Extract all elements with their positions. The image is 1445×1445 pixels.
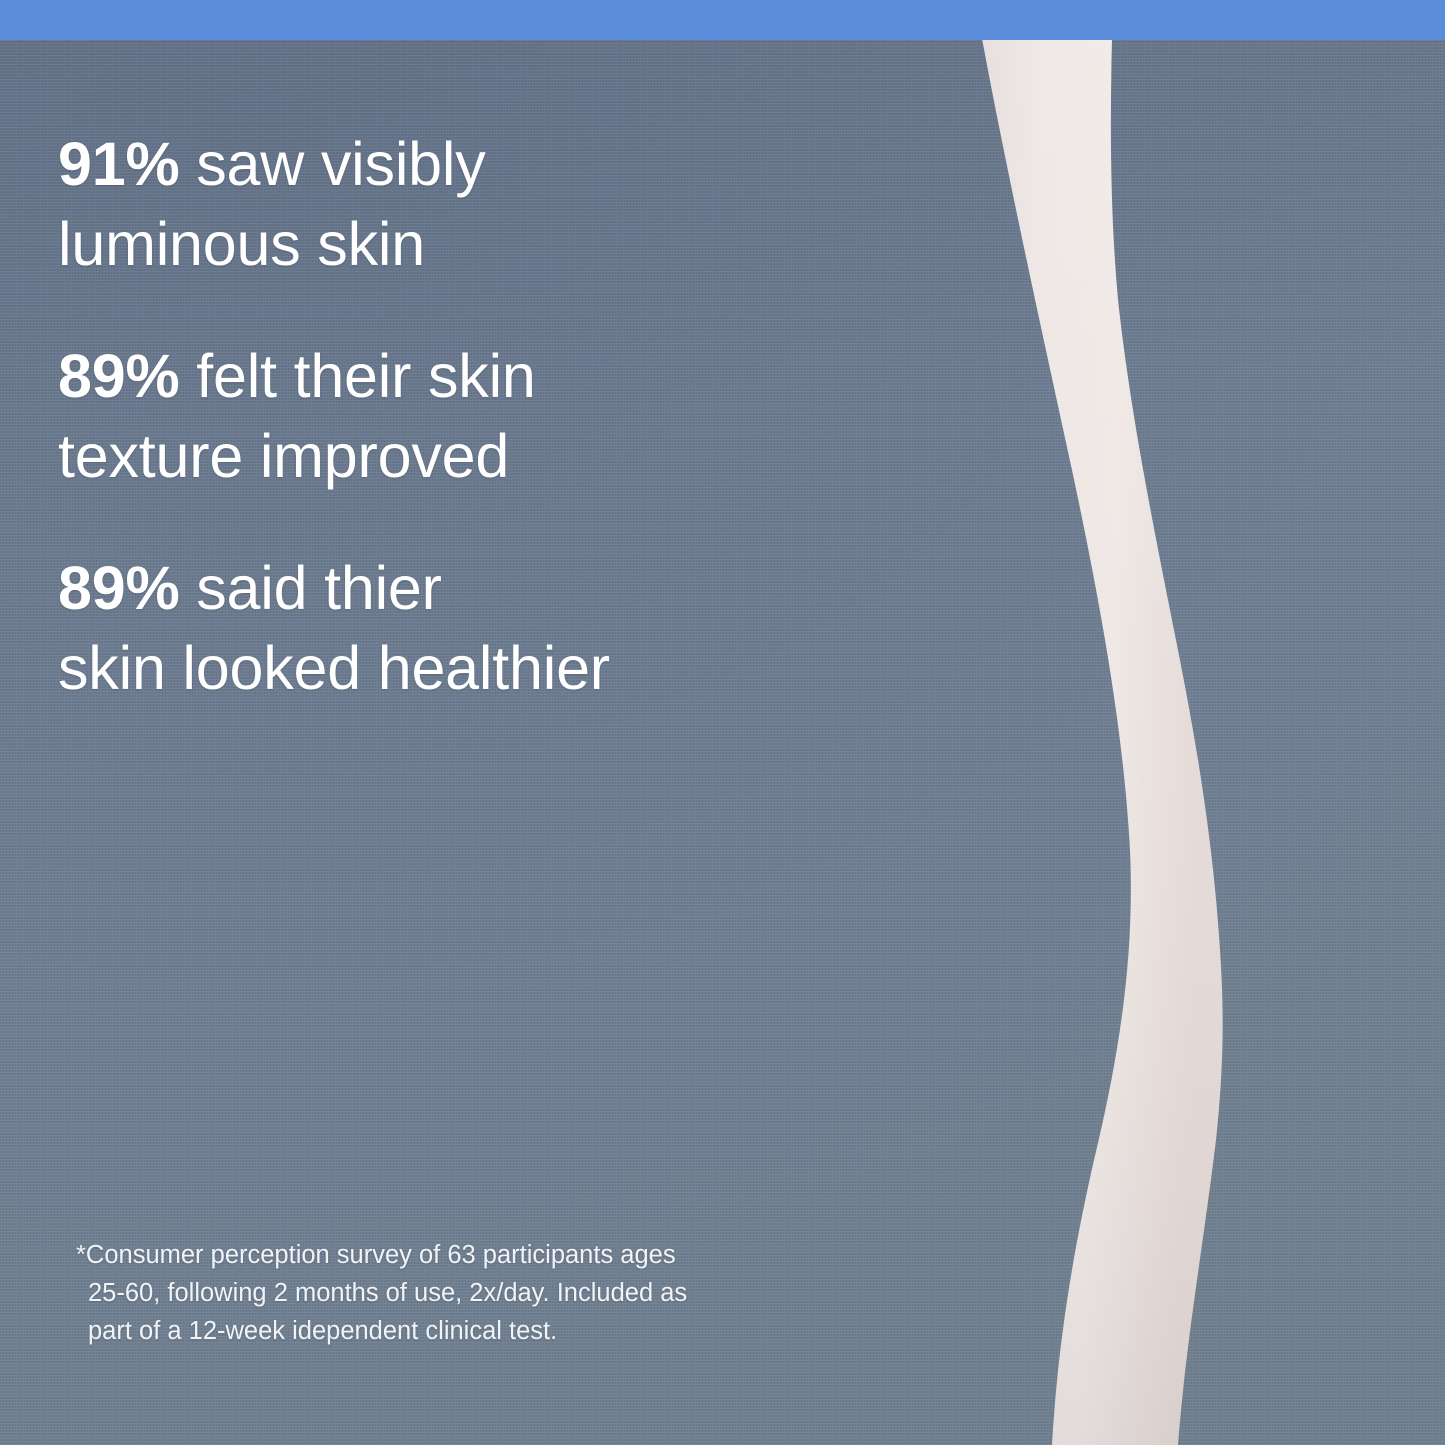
claim-item: 89% said thier skin looked healthier bbox=[58, 548, 818, 708]
claim-percent: 91% bbox=[58, 130, 180, 198]
claim-line-2: luminous skin bbox=[58, 204, 818, 284]
top-accent-band bbox=[0, 0, 1445, 40]
product-claims-card: 91% saw visibly luminous skin 89% felt t… bbox=[0, 0, 1445, 1445]
claim-item: 89% felt their skin texture improved bbox=[58, 336, 818, 496]
footnote-disclaimer: *Consumer perception survey of 63 partic… bbox=[88, 1236, 878, 1350]
claim-line-1: 91% saw visibly bbox=[58, 124, 818, 204]
footnote-line: *Consumer perception survey of 63 partic… bbox=[88, 1236, 878, 1274]
claim-percent: 89% bbox=[58, 554, 180, 622]
claim-text: felt their skin bbox=[180, 342, 536, 410]
claim-text: saw visibly bbox=[180, 130, 486, 198]
claims-list: 91% saw visibly luminous skin 89% felt t… bbox=[58, 124, 818, 708]
claim-line-2: skin looked healthier bbox=[58, 628, 818, 708]
claim-item: 91% saw visibly luminous skin bbox=[58, 124, 818, 284]
claim-line-1: 89% said thier bbox=[58, 548, 818, 628]
claim-text: said thier bbox=[180, 554, 442, 622]
claim-line-2: texture improved bbox=[58, 416, 818, 496]
footnote-line: part of a 12-week idependent clinical te… bbox=[88, 1312, 878, 1350]
footnote-line: 25-60, following 2 months of use, 2x/day… bbox=[88, 1274, 878, 1312]
claim-line-1: 89% felt their skin bbox=[58, 336, 818, 416]
claim-percent: 89% bbox=[58, 342, 180, 410]
